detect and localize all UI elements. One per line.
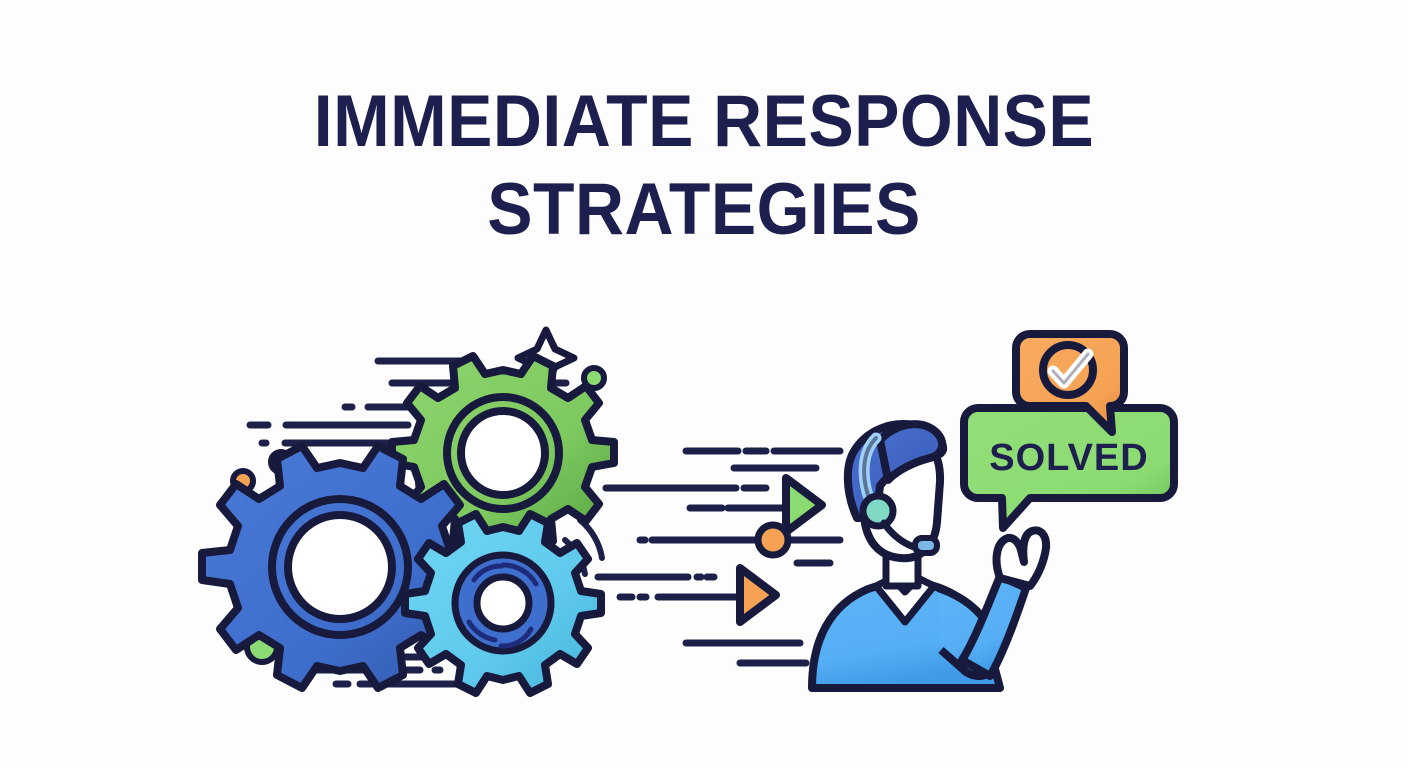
illustration-canvas: IMMEDIATE RESPONSE STRATEGIES [0,0,1408,768]
headset-mic [915,538,937,553]
green-arrow [786,478,822,532]
solved-speech-bubble: SOLVED [964,408,1174,528]
agent-hand [997,530,1047,586]
support-illustration: SOLVED [0,0,1408,768]
orange-marker-dot [758,525,788,555]
orange-arrow [740,568,776,622]
solved-label: SOLVED [989,437,1148,479]
headset-earpiece [863,496,893,526]
